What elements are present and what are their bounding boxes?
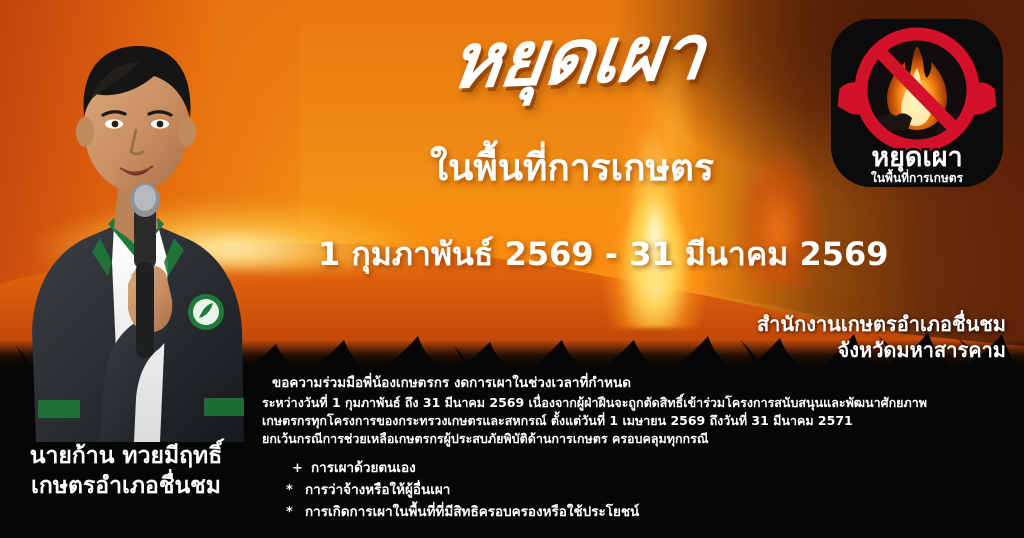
list-item: * การว่าจ้างหรือให้ผู้อื่นเผา <box>278 480 978 502</box>
no-burning-badge-icon: หยุดเผา ในพื้นที่การเกษตร หยุดเผา ในพื้น… <box>828 16 1006 194</box>
list-item: + การเผาด้วยตนเอง <box>278 458 978 480</box>
bullet-text: การเผาด้วยตนเอง <box>311 458 416 480</box>
bullet-marker: + <box>292 458 302 479</box>
badge-title: หยุดเผา <box>871 142 962 174</box>
speaker-position: เกษตรอำเภอชื่นชม <box>0 472 252 502</box>
office-name: สำนักงานเกษตรอำเภอชื่นชม <box>586 312 1006 338</box>
prohibited-acts-list: + การเผาด้วยตนเอง * การว่าจ้างหรือให้ผู้… <box>278 458 978 524</box>
bullet-text: การเกิดการเผาในพื้นที่ที่มีสิทธิครอบครอง… <box>305 502 639 524</box>
bullet-text: การว่าจ้างหรือให้ผู้อื่นเผา <box>305 480 450 502</box>
body-line-1: ขอความร่วมมือพี่น้องเกษตรกร งดการเผาในช่… <box>262 374 1018 394</box>
poster-canvas: หยุดเผา ในพื้นที่การเกษตร 1 กุมภาพันธ์ 2… <box>0 0 1024 538</box>
badge-subtitle: ในพื้นที่การเกษตร <box>871 168 964 185</box>
office-province: จังหวัดมหาสารคาม <box>586 338 1006 364</box>
office-block: สำนักงานเกษตรอำเภอชื่นชม จังหวัดมหาสารคา… <box>586 312 1006 363</box>
page-title: หยุดเผา <box>446 8 857 99</box>
body-line-2: ระหว่างวันที่ 1 กุมภาพันธ์ ถึง 31 มีนาคม… <box>262 394 1018 412</box>
date-range-text: 1 กุมภาพันธ์ 2569 - 31 มีนาคม 2569 <box>318 237 878 272</box>
bullet-marker: * <box>286 502 296 523</box>
bullet-marker: * <box>286 480 296 501</box>
body-line-3: เกษตรกรทุกโครงการของกระทรวงเกษตรและสหกรณ… <box>262 412 1018 430</box>
body-copy: ขอความร่วมมือพี่น้องเกษตรกร งดการเผาในช่… <box>262 374 1018 447</box>
list-item: * การเกิดการเผาในพื้นที่ที่มีสิทธิครอบคร… <box>278 502 978 524</box>
speaker-photo <box>8 0 270 442</box>
speaker-name: นายก้าน ทวยมีฤทธิ์ <box>0 442 252 472</box>
speaker-name-block: นายก้าน ทวยมีฤทธิ์ เกษตรอำเภอชื่นชม <box>0 442 252 502</box>
body-line-4: ยกเว้นกรณีการช่วยเหลือเกษตรกรผู้ประสบภัย… <box>262 430 1018 448</box>
page-subtitle: ในพื้นที่การเกษตร <box>430 148 850 189</box>
